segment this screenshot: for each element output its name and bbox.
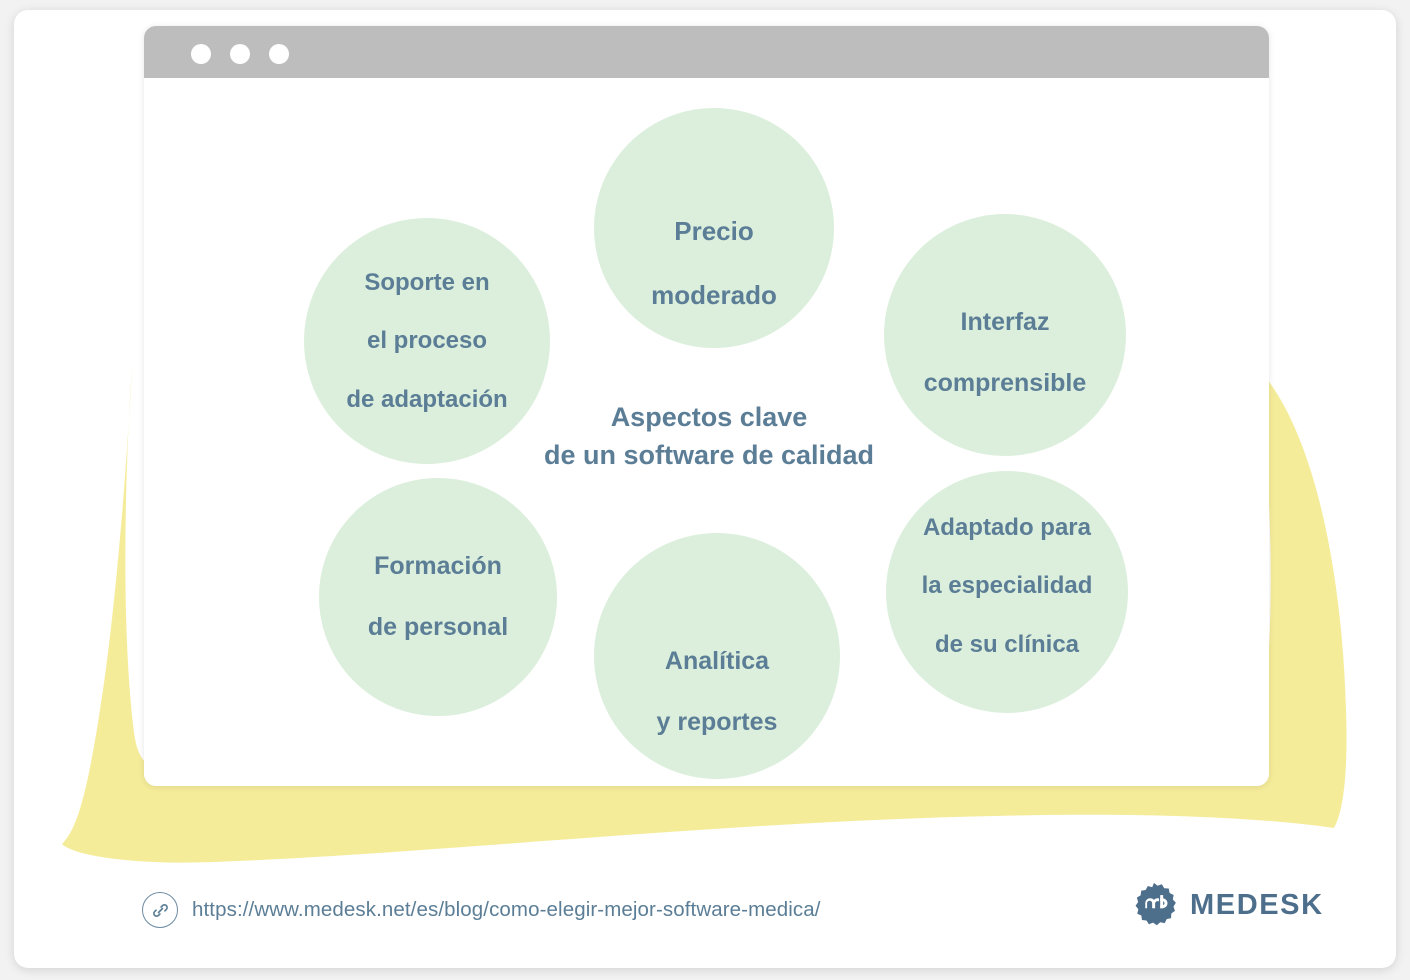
- page-card: Soporte enel procesode adaptación Precio…: [14, 10, 1396, 968]
- infographic-center-title: Aspectos clave de un software de calidad: [474, 398, 944, 475]
- bubble-formacion-line1: Formación: [362, 551, 514, 582]
- source-url-text[interactable]: https://www.medesk.net/es/blog/como-eleg…: [192, 898, 821, 922]
- close-dot-icon[interactable]: [191, 44, 211, 64]
- bubble-adaptado-line2: la especialidad: [916, 571, 1099, 600]
- bubble-adaptado-line3: de su clínica: [916, 630, 1099, 659]
- center-title-line2: de un software de calidad: [474, 436, 944, 474]
- bubble-adaptado-line1: Adaptado para: [916, 513, 1099, 542]
- bubble-formacion-line2: de personal: [362, 612, 514, 643]
- bubble-precio-line2: moderado: [645, 280, 783, 312]
- center-title-line1: Aspectos clave: [474, 398, 944, 436]
- bubble-analitica-line2: y reportes: [651, 707, 784, 738]
- bubble-interfaz-line1: Interfaz: [918, 307, 1093, 338]
- source-url-row[interactable]: https://www.medesk.net/es/blog/como-eleg…: [142, 892, 821, 928]
- bubble-analitica: Analíticay reportes: [594, 533, 840, 779]
- bubble-soporte-line2: el proceso: [340, 326, 513, 355]
- bubble-formacion-label: Formaciónde personal: [356, 551, 520, 643]
- bubble-soporte-line1: Soporte en: [340, 268, 513, 297]
- bubble-formacion: Formaciónde personal: [319, 478, 557, 716]
- bubble-interfaz-line2: comprensible: [918, 368, 1093, 399]
- bubble-precio-label: Preciomoderado: [639, 198, 789, 293]
- medesk-logo: MEDESK: [1131, 882, 1324, 928]
- bubble-adaptado-label: Adaptado parala especialidadde su clínic…: [910, 516, 1105, 662]
- browser-titlebar: [144, 26, 1269, 78]
- medesk-badge-icon: [1131, 882, 1177, 928]
- link-icon: [142, 892, 178, 928]
- maximize-dot-icon[interactable]: [269, 44, 289, 64]
- bubble-adaptado: Adaptado parala especialidadde su clínic…: [886, 471, 1128, 713]
- bubble-analitica-label: Analíticay reportes: [645, 628, 790, 720]
- bubble-precio: Preciomoderado: [594, 108, 834, 348]
- bubble-soporte-label: Soporte enel procesode adaptación: [334, 268, 519, 414]
- minimize-dot-icon[interactable]: [230, 44, 250, 64]
- bubble-analitica-line1: Analítica: [651, 646, 784, 677]
- medesk-wordmark: MEDESK: [1190, 889, 1324, 922]
- bubble-interfaz-label: Interfazcomprensible: [912, 298, 1099, 390]
- infographic-canvas: Soporte enel procesode adaptación Precio…: [144, 78, 1269, 786]
- bubble-precio-line1: Precio: [645, 216, 783, 248]
- browser-window: Soporte enel procesode adaptación Precio…: [144, 26, 1269, 786]
